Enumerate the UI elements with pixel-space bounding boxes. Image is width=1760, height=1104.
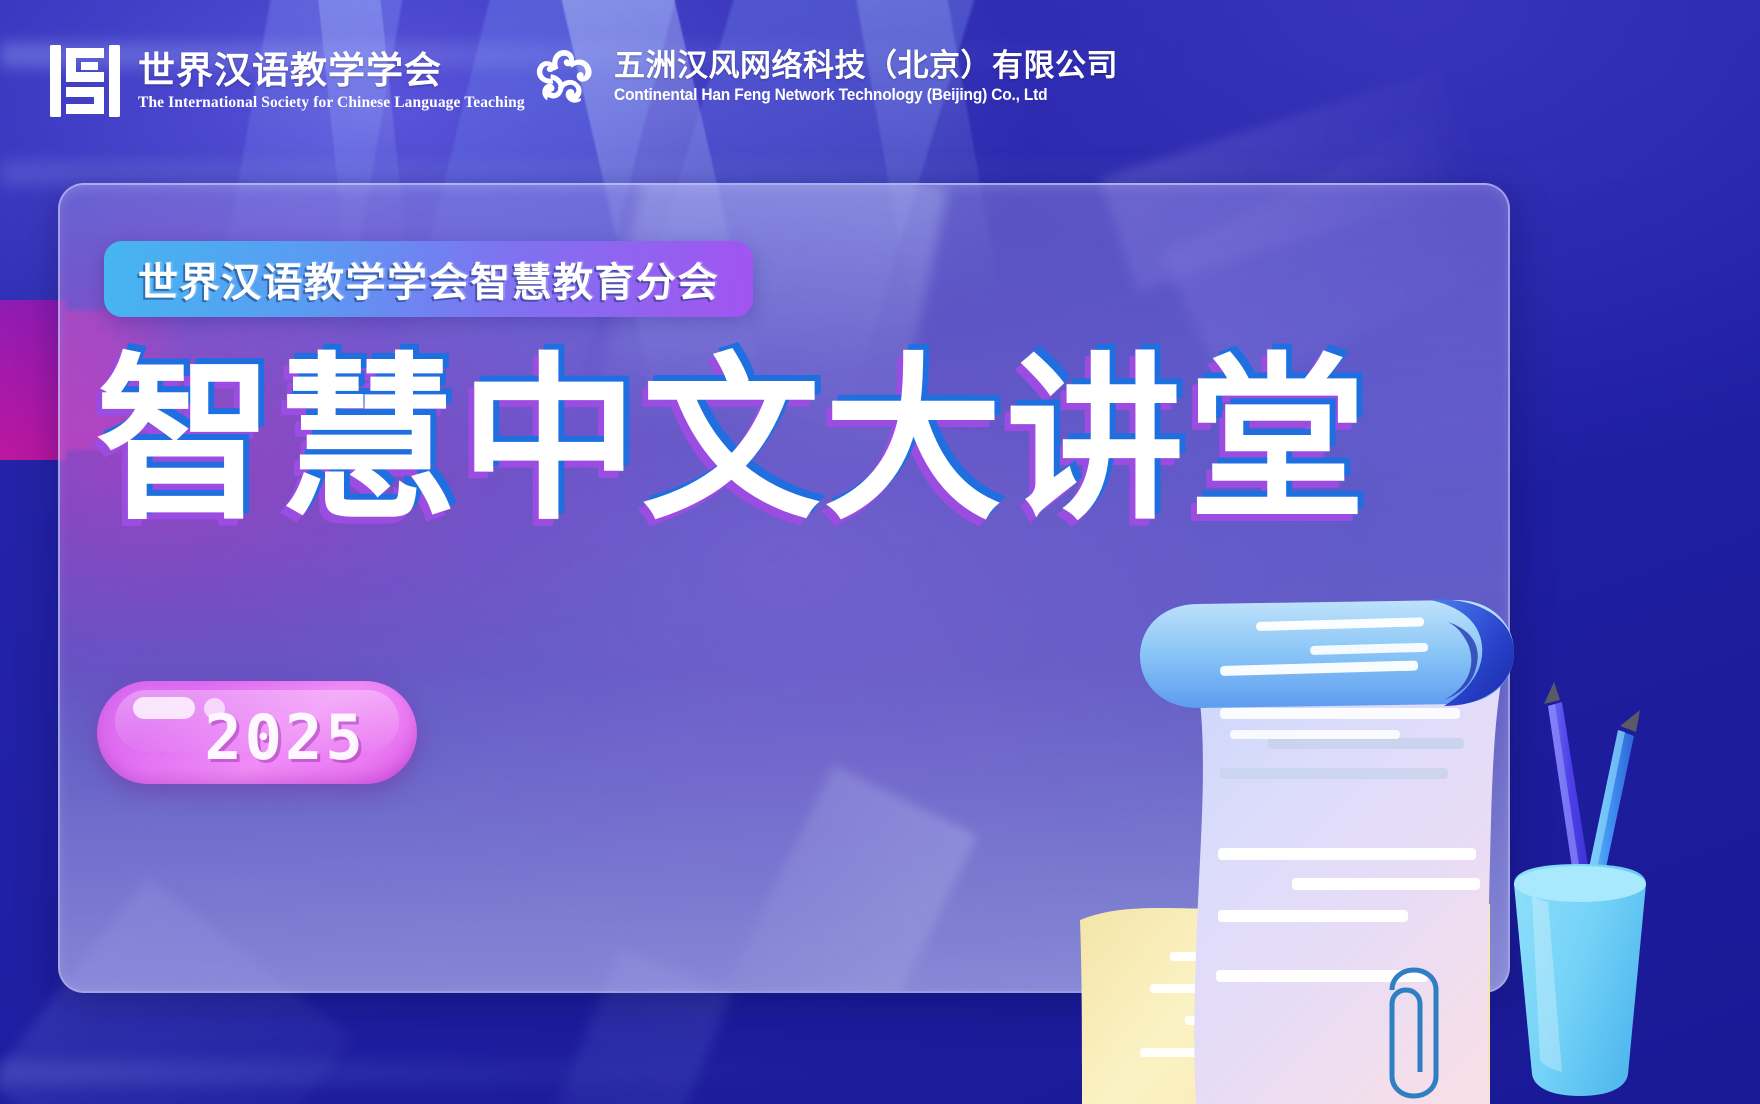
paper-scroll-illustration xyxy=(1020,560,1760,1104)
magenta-accent-block xyxy=(0,300,66,460)
subtitle-text: 世界汉语教学学会智慧教育分会 xyxy=(138,250,719,308)
chinese-seal-icon xyxy=(48,42,122,120)
society-name-cn: 世界汉语教学学会 xyxy=(138,50,525,91)
society-name-en: The International Society for Chinese La… xyxy=(138,94,525,112)
society-logo: 世界汉语教学学会 The International Society for C… xyxy=(48,42,525,120)
pencil-icon xyxy=(1544,682,1592,894)
year-text: 2025 xyxy=(204,701,365,774)
company-name-en: Continental Han Feng Network Technology … xyxy=(614,86,1088,105)
poster-header: 世界汉语教学学会 The International Society for C… xyxy=(0,0,1760,160)
gloss-pill-highlight xyxy=(133,697,195,719)
poster-stage: 世界汉语教学学会 The International Society for C… xyxy=(0,0,1760,1104)
company-logo: 五洲汉风网络科技（北京）有限公司 Continental Han Feng Ne… xyxy=(530,44,1118,110)
horizontal-light-streak xyxy=(0,1060,900,1086)
card-glare xyxy=(702,765,977,993)
subtitle-badge: 世界汉语教学学会智慧教育分会 xyxy=(104,241,753,317)
company-name-cn: 五洲汉风网络科技（北京）有限公司 xyxy=(614,49,1118,84)
year-badge: 2025 xyxy=(97,681,417,784)
page-title: 智慧中文大讲堂 xyxy=(96,352,1370,530)
swirl-knot-icon xyxy=(530,44,598,110)
paper-sheet-icon xyxy=(1192,656,1506,1104)
pencil-cup-icon xyxy=(1514,682,1646,1096)
